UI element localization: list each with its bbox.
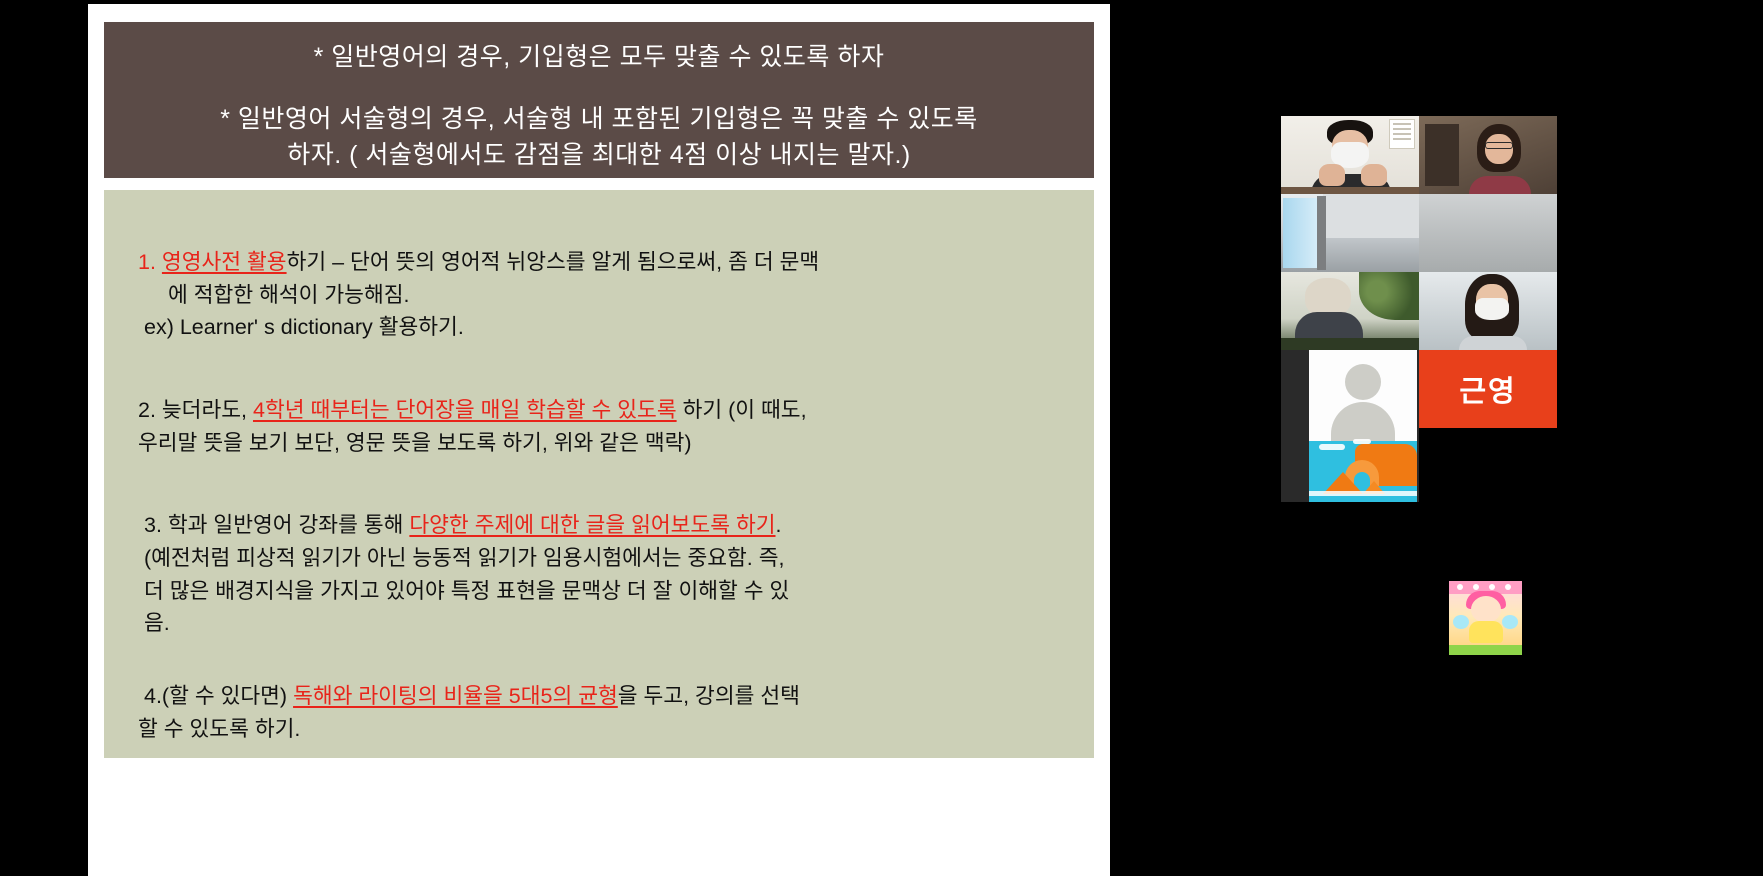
- participant-tile-3[interactable]: [1281, 194, 1419, 272]
- screen-root: * 일반영어의 경우, 기입형은 모두 맞출 수 있도록 하자 * 일반영어 서…: [0, 0, 1763, 876]
- item4-line1: 4.(할 수 있다면) 독해와 라이팅의 비율을 5대5의 균형을 두고, 강의…: [138, 680, 1064, 713]
- item1-line1-rest: 하기 – 단어 뜻의 영어적 뉘앙스를 알게 됨으로써, 좀 더 문맥: [287, 250, 820, 274]
- participant-tile-4[interactable]: [1419, 194, 1557, 272]
- tile2-torso: [1469, 176, 1531, 194]
- item3-line1: 3. 학과 일반영어 강좌를 통해 다양한 주제에 대한 글을 읽어보도록 하기…: [138, 509, 1064, 542]
- spacer-2: [138, 465, 1064, 509]
- item3-line4: 음.: [138, 607, 1064, 640]
- participant-name-label: 근영: [1419, 350, 1557, 428]
- avatar-head-icon: [1345, 364, 1381, 400]
- thumbnail-tile[interactable]: [1449, 581, 1522, 655]
- character-head: [1471, 596, 1501, 623]
- list-item-1: 1. 영영사전 활용하기 – 단어 뜻의 영어적 뉘앙스를 알게 됨으로써, 좀…: [138, 246, 1064, 344]
- item3-prefix: 3. 학과 일반영어 강좌를 통해: [138, 513, 409, 537]
- item1-line1: 1. 영영사전 활용하기 – 단어 뜻의 영어적 뉘앙스를 알게 됨으로써, 좀…: [138, 246, 1064, 279]
- header-block-2: * 일반영어 서술형의 경우, 서술형 내 포함된 기입형은 꼭 맞출 수 있도…: [118, 101, 1080, 174]
- character-body: [1469, 621, 1503, 643]
- tile6-torso: [1459, 336, 1527, 350]
- spacer-3: [138, 646, 1064, 680]
- tile1-hand-right: [1361, 164, 1387, 186]
- item4-line2: 할 수 있도록 하기.: [138, 713, 1064, 746]
- tile3-ceiling: [1323, 194, 1419, 238]
- participant-tile-6[interactable]: [1419, 272, 1557, 350]
- sea-foam: [1309, 491, 1417, 496]
- participant-tile-5[interactable]: [1281, 272, 1419, 350]
- item4-prefix: 4.(할 수 있다면): [138, 684, 293, 708]
- tile5-ground: [1281, 338, 1419, 350]
- video-participant-panel: 근영: [1281, 116, 1763, 676]
- item3-line2: (예전처럼 피상적 읽기가 아닌 능동적 읽기가 임용시험에서는 중요함. 즉,: [138, 542, 1064, 575]
- list-item-2: 2. 늦더라도, 4학년 때부터는 단어장을 매일 학습할 수 있도록 하기 (…: [138, 394, 1064, 459]
- item2-line1: 2. 늦더라도, 4학년 때부터는 단어장을 매일 학습할 수 있도록 하기 (…: [138, 394, 1064, 427]
- wing-left-icon: [1453, 615, 1469, 629]
- tile4-background: [1419, 194, 1557, 272]
- cloud-icon: [1319, 444, 1345, 450]
- face-mask-icon: [1475, 298, 1509, 320]
- grass-strip: [1449, 645, 1522, 655]
- calendar-icon: [1389, 119, 1415, 149]
- slide-page: * 일반영어의 경우, 기입형은 모두 맞출 수 있도록 하자 * 일반영어 서…: [88, 4, 1110, 876]
- slide-content-box: 1. 영영사전 활용하기 – 단어 뜻의 영어적 뉘앙스를 알게 됨으로써, 좀…: [104, 190, 1094, 758]
- item1-line3: ex) Learner' s dictionary 활용하기.: [138, 311, 1064, 344]
- header-line-1: * 일반영어의 경우, 기입형은 모두 맞출 수 있도록 하자: [118, 40, 1080, 75]
- slide-header-box: * 일반영어의 경우, 기입형은 모두 맞출 수 있도록 하자 * 일반영어 서…: [104, 22, 1094, 178]
- item3-suffix: .: [776, 513, 782, 537]
- item1-line2: 에 적합한 해석이 가능해짐.: [138, 279, 1064, 312]
- header-line-2: * 일반영어 서술형의 경우, 서술형 내 포함된 기입형은 꼭 맞출 수 있도…: [118, 101, 1080, 137]
- item1-number: 1.: [138, 250, 156, 274]
- spacer-1: [138, 350, 1064, 394]
- glasses-icon: [1485, 142, 1513, 149]
- item2-emphasis: 4학년 때부터는 단어장을 매일 학습할 수 있도록: [253, 398, 677, 422]
- item4-suffix: 을 두고, 강의를 선택: [618, 684, 800, 708]
- tile2-shelf: [1425, 124, 1459, 186]
- item3-line3: 더 많은 배경지식을 가지고 있어야 특정 표현을 문맥상 더 잘 이해할 수 …: [138, 575, 1064, 608]
- participant-tile-7-avatar[interactable]: [1309, 350, 1417, 502]
- wing-right-icon: [1502, 615, 1518, 629]
- item2-line2: 우리말 뜻을 보기 보단, 영문 뜻을 보도록 하기, 위와 같은 맥락): [138, 427, 1064, 460]
- tile3-window-frame: [1317, 196, 1326, 270]
- tile2-face: [1485, 134, 1513, 164]
- header-line-3: 하자. ( 서술형에서도 감점을 최대한 4점 이상 내지는 말자.): [118, 137, 1080, 173]
- tile5-torso: [1295, 312, 1363, 338]
- participant-tile-2[interactable]: [1419, 116, 1557, 194]
- list-item-4: 4.(할 수 있다면) 독해와 라이팅의 비율을 5대5의 균형을 두고, 강의…: [138, 680, 1064, 745]
- item2-suffix: 하기 (이 때도,: [677, 398, 807, 422]
- participant-name-tile[interactable]: 근영: [1419, 350, 1557, 428]
- tile1-hand-left: [1319, 164, 1345, 186]
- item2-prefix: 2. 늦더라도,: [138, 398, 253, 422]
- item3-emphasis: 다양한 주제에 대한 글을 읽어보도록 하기: [409, 513, 775, 537]
- item1-emphasis: 영영사전 활용: [162, 250, 287, 274]
- tile1-desk: [1281, 187, 1419, 194]
- list-item-3: 3. 학과 일반영어 강좌를 통해 다양한 주제에 대한 글을 읽어보도록 하기…: [138, 509, 1064, 640]
- participant-tile-1[interactable]: [1281, 116, 1419, 194]
- item4-emphasis: 독해와 라이팅의 비율을 5대5의 균형: [293, 684, 618, 708]
